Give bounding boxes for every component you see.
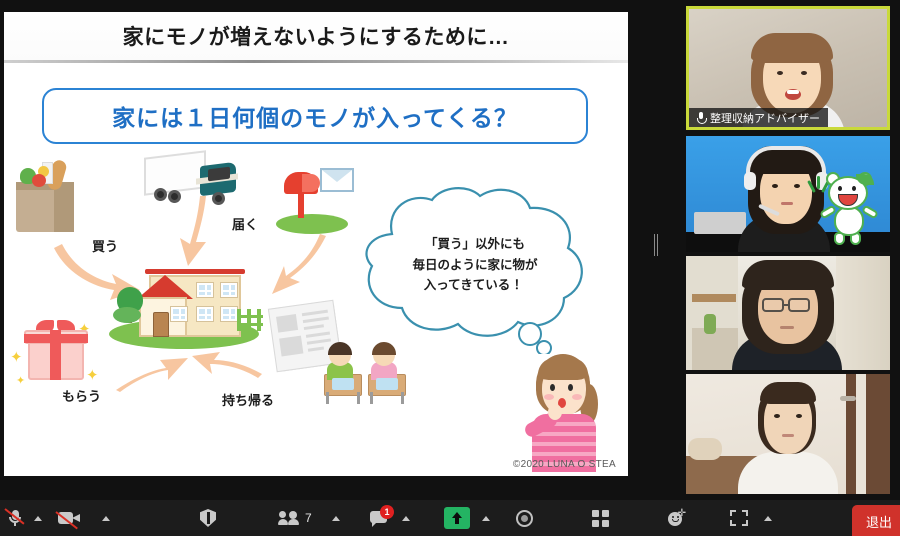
- chevron-up-icon: [764, 516, 772, 521]
- slide-title: 家にモノが増えないようにするために…: [123, 21, 510, 51]
- slide-subtitle: 家には１日何個のモノが入ってくる？: [112, 99, 518, 133]
- video-stopped-icon: [58, 511, 80, 525]
- share-screen-button[interactable]: [444, 500, 470, 536]
- mic-muted-icon: [8, 509, 22, 527]
- breakout-rooms-icon: [592, 510, 609, 527]
- mute-button[interactable]: [8, 500, 22, 536]
- share-screen-icon: [444, 507, 470, 529]
- label-receive: もらう: [62, 386, 101, 405]
- mascot-character: [822, 172, 876, 246]
- delivery-truck-illustration: [144, 152, 240, 208]
- video-gallery-strip: 整理収納アドバイザー: [676, 0, 900, 500]
- slide-subtitle-box: 家には１日何個のモノが入ってくる？: [42, 88, 588, 144]
- chat-icon: 1: [370, 511, 387, 526]
- shared-screen-region[interactable]: 家にモノが増えないようにするために… 家には１日何個のモノが入ってくる？: [0, 0, 676, 500]
- apps-icon: [730, 510, 748, 526]
- participants-button[interactable]: 7: [278, 500, 312, 536]
- participants-icon: [278, 511, 300, 525]
- record-button[interactable]: [516, 500, 533, 536]
- house-illustration: [109, 257, 259, 349]
- record-icon: [516, 510, 533, 527]
- reactions-button[interactable]: ✛: [668, 500, 686, 536]
- thought-bubble: 「買う」以外にも 毎日のように家に物が 入ってきている ！: [352, 182, 598, 354]
- breakout-rooms-button[interactable]: [592, 500, 609, 536]
- label-buy: 買う: [92, 236, 118, 255]
- video-tile-1[interactable]: 整理収納アドバイザー: [686, 6, 890, 130]
- audio-options-caret[interactable]: [32, 500, 42, 536]
- leave-meeting-button[interactable]: 退出: [852, 505, 900, 536]
- mic-icon: [697, 112, 705, 123]
- video-options-caret[interactable]: [100, 500, 110, 536]
- participant-name-tag-1: 整理収納アドバイザー: [689, 108, 828, 127]
- chat-button[interactable]: 1: [370, 500, 387, 536]
- label-bring-home: 持ち帰る: [222, 390, 274, 409]
- chevron-up-icon: [402, 516, 410, 521]
- reactions-icon: ✛: [668, 510, 686, 526]
- participant-name-1: 整理収納アドバイザー: [710, 110, 820, 126]
- shield-icon: [200, 509, 216, 527]
- title-divider: [4, 60, 628, 63]
- chevron-up-icon: [34, 516, 42, 521]
- gift-illustration: ✦ ✦ ✦ ✦: [24, 320, 88, 382]
- chat-caret[interactable]: [400, 500, 410, 536]
- share-options-caret[interactable]: [480, 500, 490, 536]
- mailbox-illustration: [276, 168, 348, 234]
- apps-caret[interactable]: [762, 500, 772, 536]
- video-tile-2[interactable]: [686, 136, 890, 252]
- thinking-woman-illustration: [522, 352, 606, 472]
- chevron-up-icon: [332, 516, 340, 521]
- chevron-up-icon: [102, 516, 110, 521]
- chat-badge: 1: [380, 505, 394, 519]
- security-button[interactable]: [200, 500, 216, 536]
- grocery-bag-illustration: [16, 160, 74, 232]
- label-deliver: 届く: [232, 214, 258, 233]
- participants-caret[interactable]: [330, 500, 340, 536]
- flow-diagram: 買う 届: [4, 152, 628, 476]
- slide-title-bar: 家にモノが増えないようにするために…: [4, 12, 628, 60]
- participants-count: 7: [305, 511, 312, 525]
- copyright-text: ©2020 LUNA O STEA: [513, 459, 616, 470]
- video-tile-4[interactable]: [686, 374, 890, 494]
- chevron-up-icon: [482, 516, 490, 521]
- meeting-window: 家にモノが増えないようにするために… 家には１日何個のモノが入ってくる？: [0, 0, 900, 536]
- presentation-slide: 家にモノが増えないようにするために… 家には１日何個のモノが入ってくる？: [4, 12, 628, 476]
- apps-button[interactable]: [730, 500, 748, 536]
- panel-drag-handle[interactable]: [654, 234, 658, 256]
- video-tile-3[interactable]: [686, 256, 890, 370]
- thought-bubble-text: 「買う」以外にも 毎日のように家に物が 入ってきている ！: [374, 234, 576, 296]
- meeting-toolbar: 7 1: [0, 500, 900, 536]
- video-button[interactable]: [58, 500, 80, 536]
